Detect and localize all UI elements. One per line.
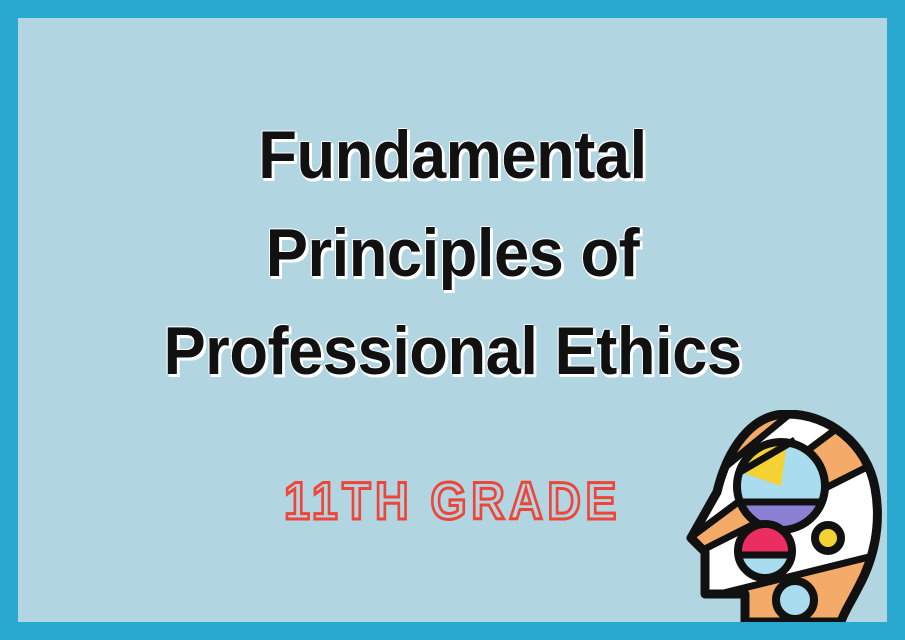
poster-inner-panel: Fundamental Principles of Professional E… xyxy=(18,18,887,622)
neck-cyan-circle xyxy=(776,581,814,619)
poster-canvas: Fundamental Principles of Professional E… xyxy=(0,0,905,640)
title-line-1: Fundamental xyxy=(61,106,843,204)
human-head-profile-icon xyxy=(683,410,887,622)
grade-level-text: 11TH GRADE xyxy=(284,473,621,531)
small-yellow-circle xyxy=(815,525,841,551)
pink-cyan-circle xyxy=(738,524,792,578)
title-line-2: Principles of xyxy=(61,204,843,302)
page-title: Fundamental Principles of Professional E… xyxy=(18,106,887,400)
large-concept-circle xyxy=(737,440,825,533)
head-illustration-svg xyxy=(683,410,887,622)
title-line-3: Professional Ethics xyxy=(61,302,843,400)
